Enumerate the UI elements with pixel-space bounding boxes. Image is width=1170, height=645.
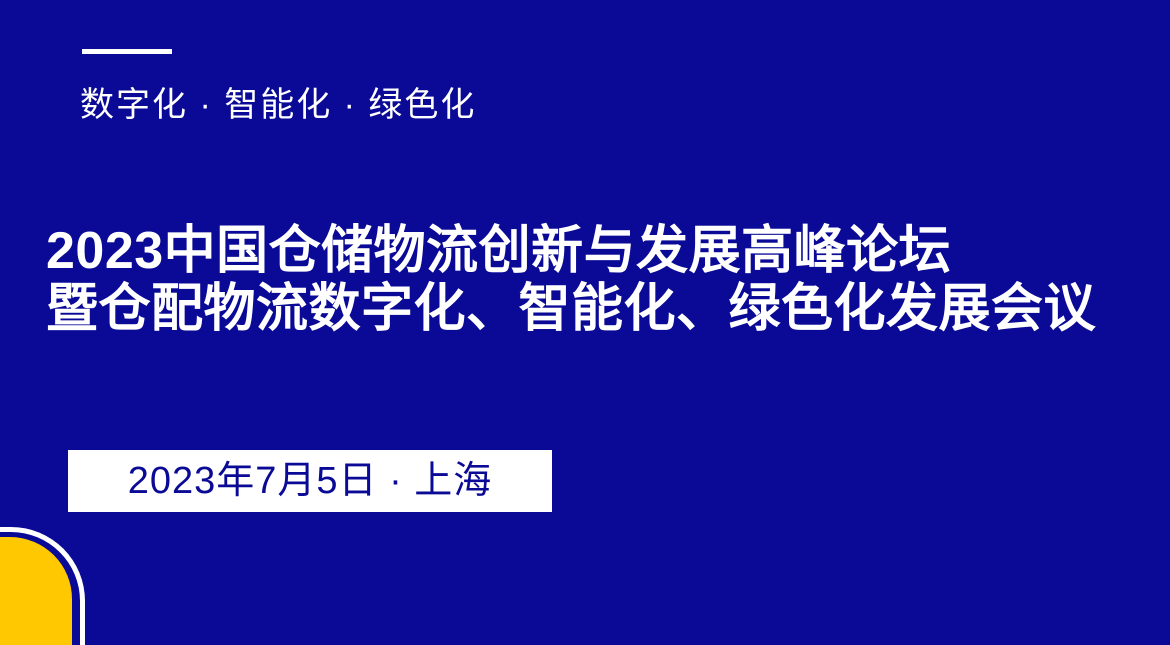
eyebrow-text: 数字化 · 智能化 · 绿色化 <box>80 83 476 127</box>
eyebrow-rule <box>82 49 172 54</box>
page-title: 2023中国仓储物流创新与发展高峰论坛 暨仓配物流数字化、智能化、绿色化发展会议 <box>46 222 1136 338</box>
title-line-secondary: 暨仓配物流数字化、智能化、绿色化发展会议 <box>46 280 1136 338</box>
conference-banner: 数字化 · 智能化 · 绿色化 2023中国仓储物流创新与发展高峰论坛 暨仓配物… <box>0 0 1170 645</box>
date-location-text: 2023年7月5日 · 上海 <box>128 461 493 501</box>
title-line-primary: 2023中国仓储物流创新与发展高峰论坛 <box>46 222 1136 280</box>
date-location-badge: 2023年7月5日 · 上海 <box>68 450 552 512</box>
